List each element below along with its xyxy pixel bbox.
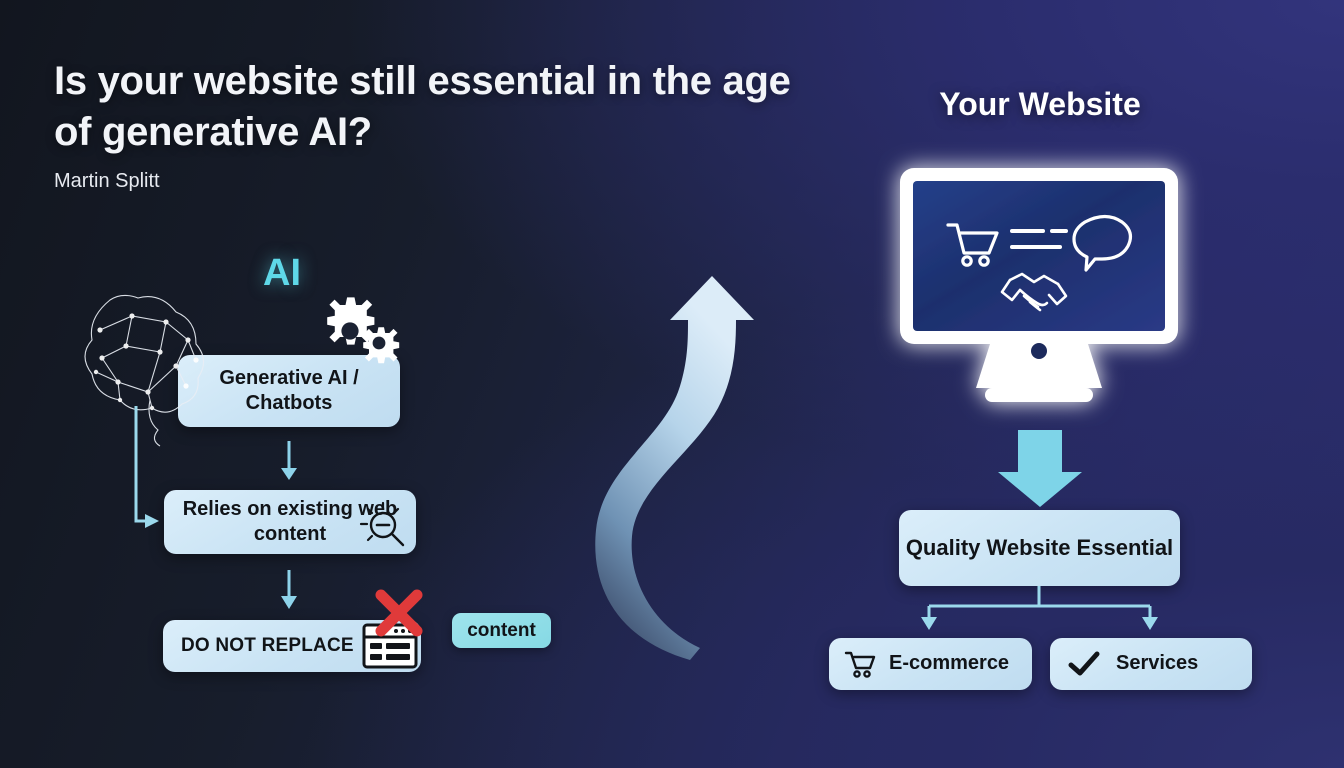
node-services[interactable]: Services: [1050, 638, 1252, 690]
infographic-canvas: Is your website still essential in the a…: [0, 0, 1344, 768]
page-title: Is your website still essential in the a…: [54, 56, 794, 158]
node-relies-on-existing-web-content[interactable]: Relies on existing web content: [164, 490, 416, 554]
content-badge[interactable]: content: [452, 613, 551, 648]
monitor-screen-icons: [948, 217, 1130, 311]
handshake-icon: [1002, 274, 1066, 310]
curved-up-arrow: [595, 276, 754, 660]
connector-genai-to-relies-side: [136, 406, 159, 528]
node-label: DO NOT REPLACE: [181, 634, 354, 658]
connector-quality-branches: [921, 586, 1158, 630]
ai-label: AI: [238, 252, 326, 295]
monitor-illustration: [900, 168, 1178, 402]
connector-arrow-relies-donot: [281, 570, 297, 609]
gears-icon: [327, 297, 399, 363]
content-badge-label: content: [467, 620, 536, 642]
shopping-cart-icon: [948, 225, 997, 265]
node-label: Relies on existing web content: [164, 497, 416, 547]
node-quality-website-essential[interactable]: Quality Website Essential: [899, 510, 1180, 586]
check-icon: [1068, 650, 1100, 678]
node-generative-ai-chatbots[interactable]: Generative AI / Chatbots: [178, 355, 400, 427]
node-do-not-replace[interactable]: DO NOT REPLACE: [163, 620, 421, 672]
down-arrow-to-quality: [998, 430, 1082, 507]
list-lines-icon: [1012, 231, 1066, 247]
node-label: E-commerce: [889, 651, 1009, 676]
node-label: Quality Website Essential: [906, 534, 1173, 562]
shopping-cart-icon: [843, 649, 877, 679]
right-panel-heading: Your Website: [860, 86, 1220, 123]
node-label: Generative AI / Chatbots: [178, 366, 400, 416]
node-label: Services: [1116, 651, 1198, 676]
node-ecommerce[interactable]: E-commerce: [829, 638, 1032, 690]
connector-arrow-genai-relies: [281, 441, 297, 480]
speech-bubble-icon: [1074, 217, 1130, 271]
author-name: Martin Splitt: [54, 170, 160, 193]
